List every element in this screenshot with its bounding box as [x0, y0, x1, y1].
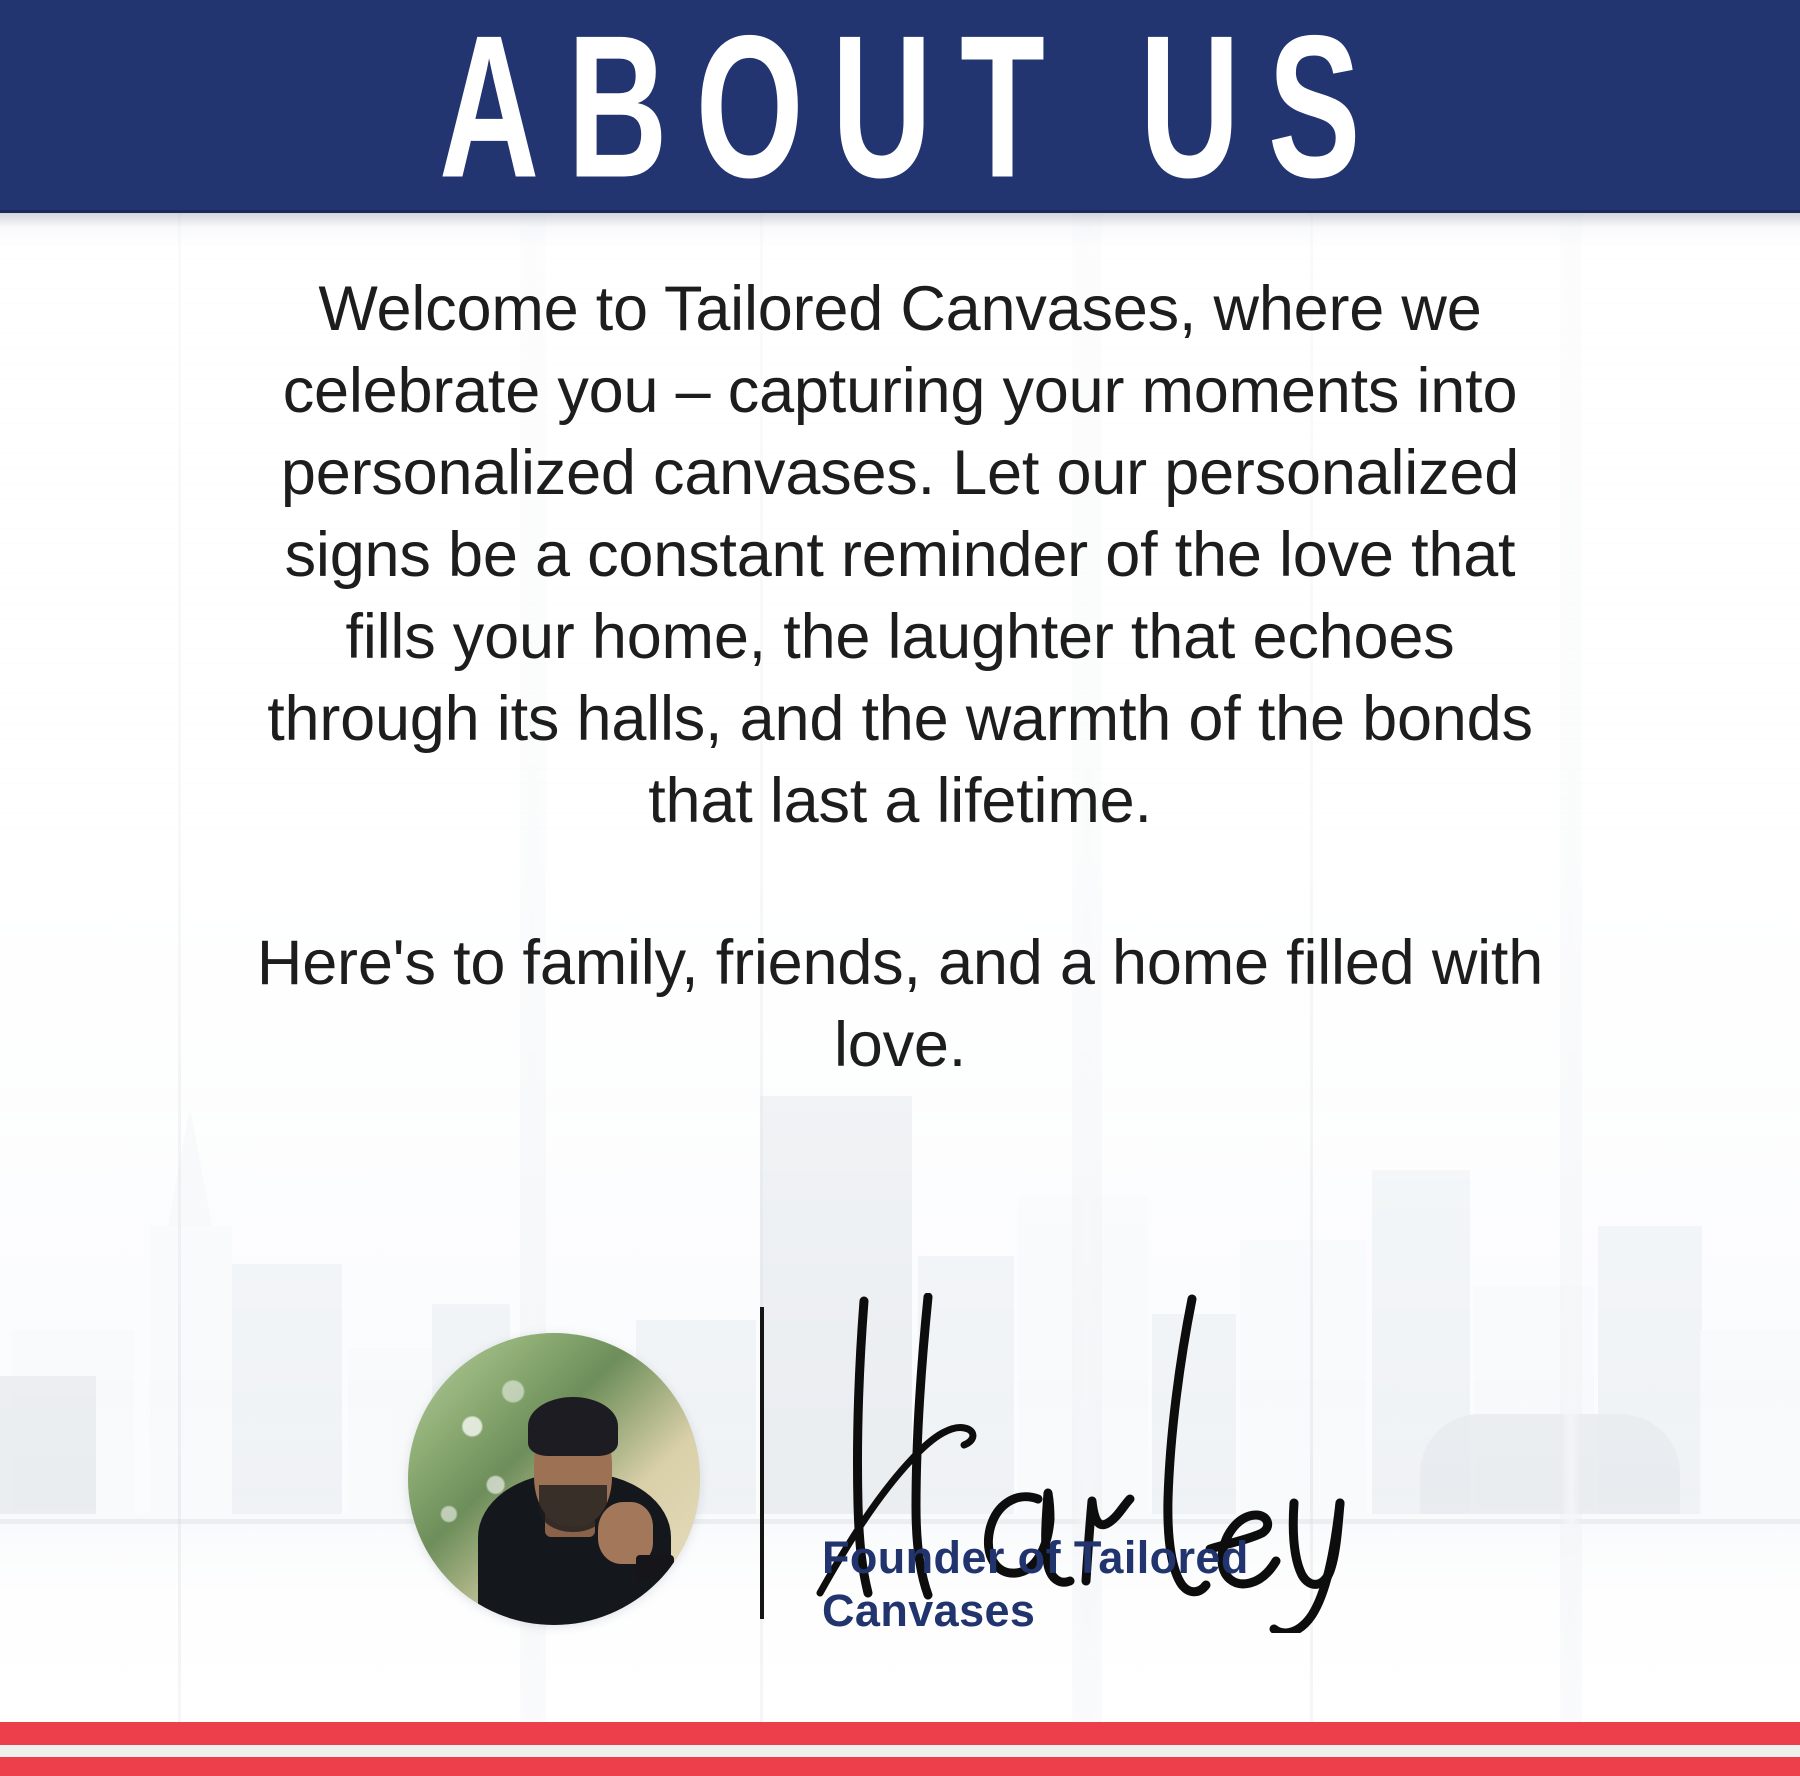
founder-title: Founder of Tailored Canvases: [822, 1531, 1382, 1637]
avatar-watch: [636, 1555, 674, 1581]
about-paragraph-1: Welcome to Tailored Canvases, where we c…: [255, 268, 1545, 842]
footer-stripe-gap: [0, 1745, 1800, 1757]
avatar: [408, 1333, 700, 1625]
about-paragraph-2: Here's to family, friends, and a home fi…: [255, 922, 1545, 1086]
founder-title-line-2: Canvases: [822, 1584, 1382, 1637]
footer-stripe-top: [0, 1722, 1800, 1745]
page-title: ABOUT US: [411, 16, 1389, 199]
vertical-divider: [760, 1307, 764, 1619]
footer-stripe-bottom: [0, 1757, 1800, 1776]
about-copy: Welcome to Tailored Canvases, where we c…: [255, 268, 1545, 1086]
avatar-beard: [539, 1485, 606, 1532]
paragraph-spacer: [255, 842, 1545, 922]
avatar-hair: [528, 1397, 619, 1455]
founder-title-line-1: Founder of Tailored: [822, 1531, 1382, 1584]
signature-block: Founder of Tailored Canvases: [0, 1293, 1800, 1633]
main-content: Welcome to Tailored Canvases, where we c…: [0, 213, 1800, 1776]
about-us-card: ABOUT US Welcome to Tailored Canvases, w…: [0, 0, 1800, 1776]
about-us-banner: ABOUT US: [0, 0, 1800, 213]
